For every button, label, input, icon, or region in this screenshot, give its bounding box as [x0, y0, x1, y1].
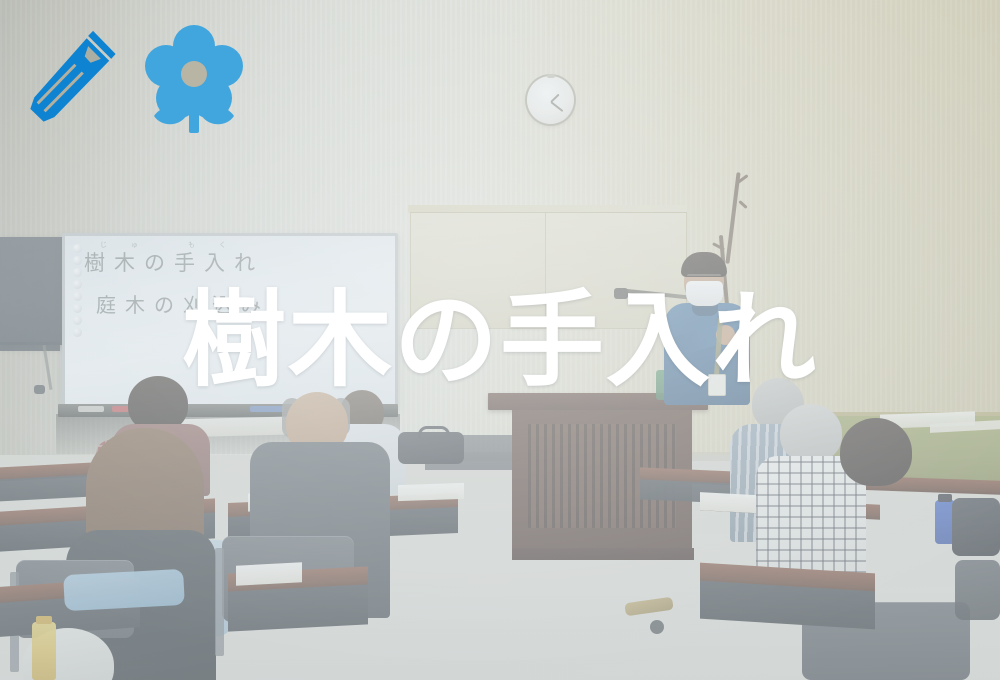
black-bag: [952, 498, 1000, 556]
tea-bottle: [32, 622, 56, 680]
attendee-head-front-right: [840, 418, 912, 486]
desk-row1-center-frame: [228, 584, 368, 631]
handout-paper: [236, 562, 302, 585]
handout-paper: [398, 483, 464, 501]
banner-stage: じゅ もく 樹木の手入れ 庭木の刈込み: [0, 0, 1000, 680]
flower-icon: [142, 22, 246, 134]
desk-bag-handle: [418, 426, 450, 438]
water-bottle-cap: [938, 494, 952, 502]
handbag: [955, 560, 1000, 620]
clock-minute-hand: [550, 101, 563, 112]
whiteboard-marker-blue: [250, 406, 284, 412]
pencil-icon: [22, 26, 120, 126]
clock-mount: [547, 74, 555, 78]
tea-bottle-cap: [36, 616, 52, 624]
attendee-head-grey: [780, 404, 842, 462]
whiteboard-line-1: 樹木の手入れ: [84, 247, 264, 277]
page-title: 樹木の手入れ: [0, 282, 1000, 398]
chair-caster: [650, 620, 664, 634]
blue-bag: [63, 569, 185, 611]
wall-clock-icon: [527, 76, 574, 124]
chair-frame: [215, 548, 224, 656]
whiteboard-eraser: [78, 406, 104, 412]
podium-base: [512, 548, 694, 560]
